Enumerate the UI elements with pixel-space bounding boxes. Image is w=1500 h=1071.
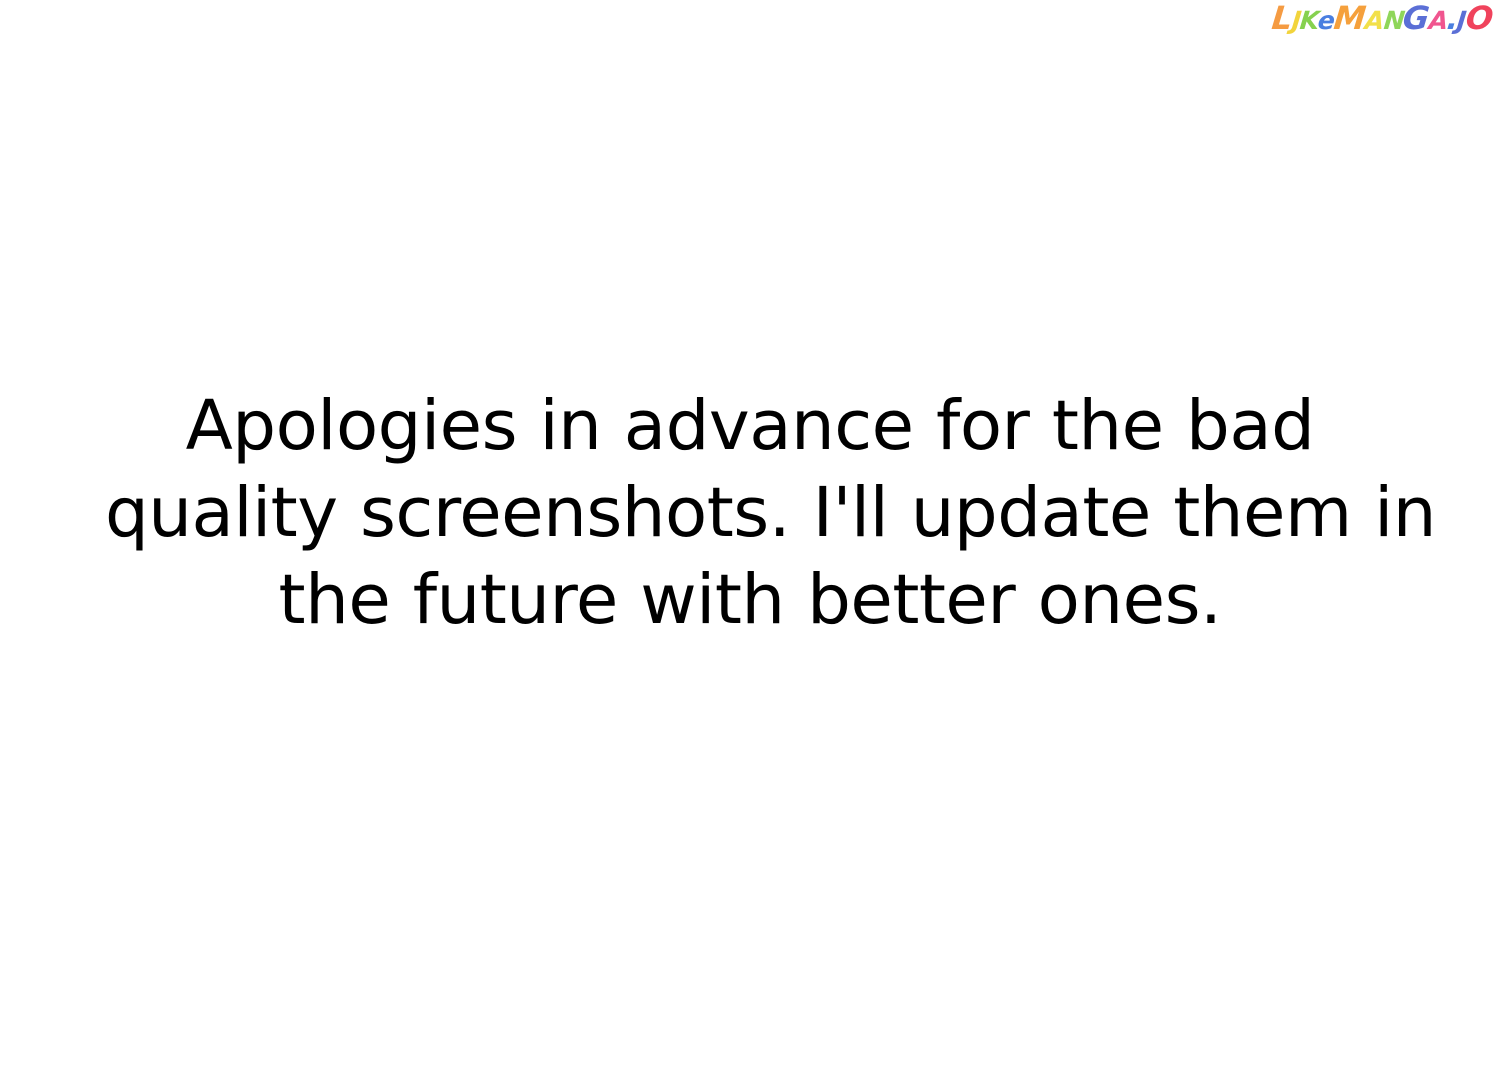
manga-page: Apologies in advance for the bad quality… bbox=[0, 0, 1500, 1071]
caption-line-2: quality screenshots. I'll update them in bbox=[105, 470, 1395, 557]
watermark-char-12: O bbox=[1464, 1, 1494, 35]
caption-line-3: the future with better ones. bbox=[105, 557, 1395, 644]
site-watermark: L J K e M A N G A . J O bbox=[1272, 1, 1492, 38]
watermark-char-5: M bbox=[1333, 1, 1367, 35]
caption-text: Apologies in advance for the bad quality… bbox=[105, 383, 1395, 644]
caption-block: Apologies in advance for the bad quality… bbox=[0, 0, 1500, 1071]
caption-line-1: Apologies in advance for the bad bbox=[105, 383, 1395, 470]
watermark-char-8: G bbox=[1402, 1, 1431, 35]
